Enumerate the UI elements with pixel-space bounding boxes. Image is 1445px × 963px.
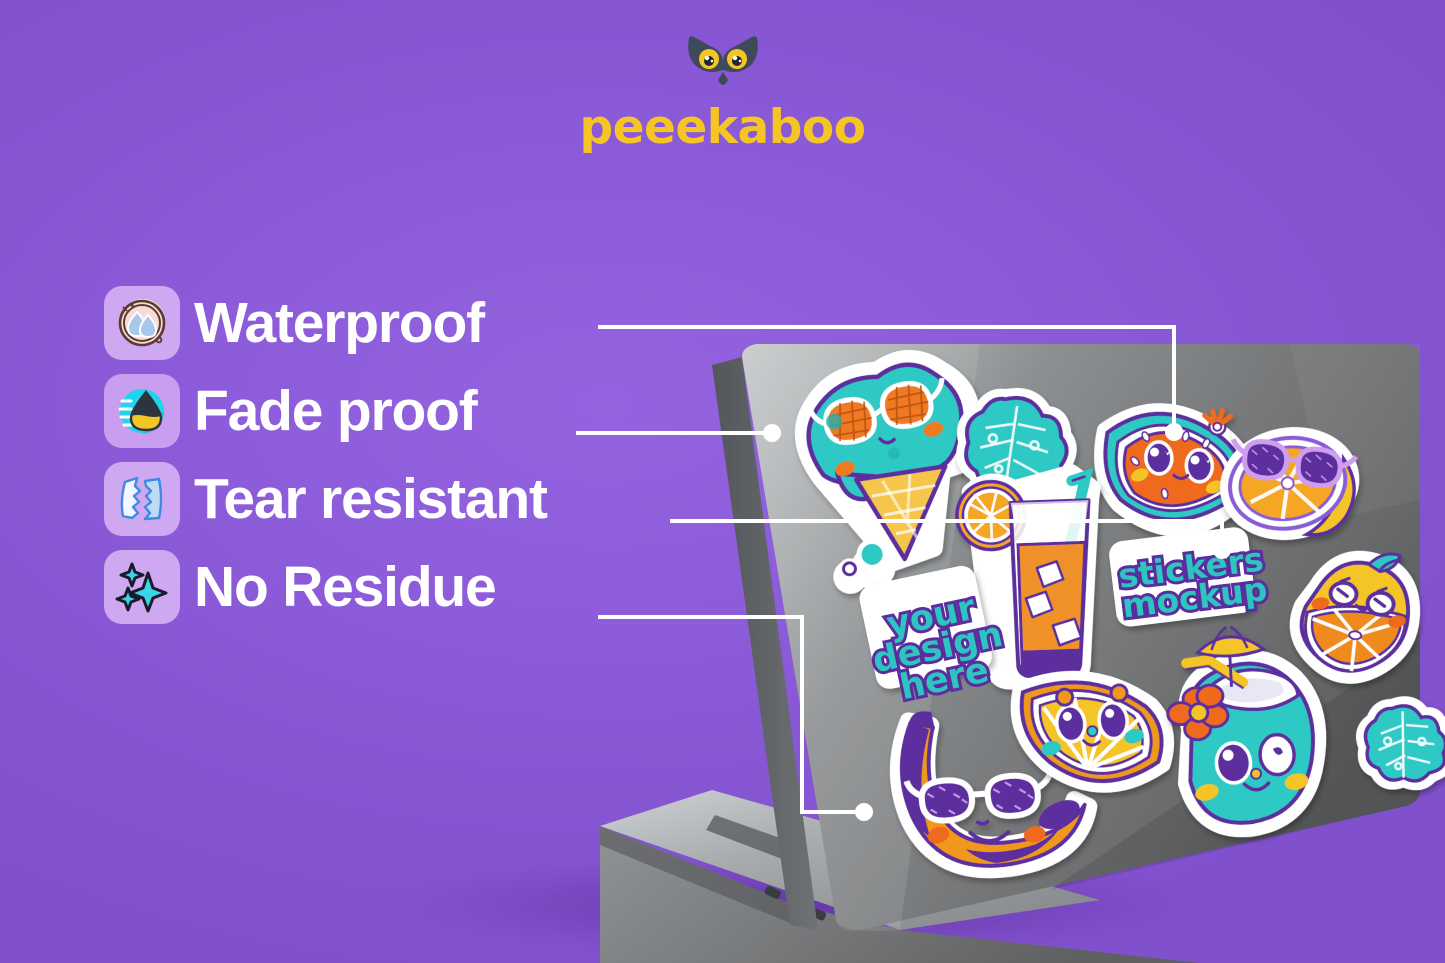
- owl-icon: [684, 34, 762, 100]
- half-toned-droplet-icon: [115, 384, 169, 438]
- feature-item-waterproof[interactable]: Waterproof: [104, 286, 547, 360]
- brand-logo: peeekaboo: [0, 34, 1445, 151]
- feature-item-fade-proof[interactable]: Fade proof: [104, 374, 547, 448]
- feature-label-waterproof: Waterproof: [194, 295, 484, 352]
- feature-item-no-residue[interactable]: No Residue: [104, 550, 547, 624]
- feature-item-tear-resistant[interactable]: Tear resistant: [104, 462, 547, 536]
- torn-paper-icon: [115, 472, 169, 526]
- waterproof-icon-tile: [104, 286, 180, 360]
- brand-wordmark: peeekaboo: [580, 104, 866, 151]
- fade-proof-icon-tile: [104, 374, 180, 448]
- water-droplets-in-circle-icon: [115, 296, 169, 350]
- tear-resistant-icon-tile: [104, 462, 180, 536]
- feature-label-tear-resistant: Tear resistant: [194, 471, 547, 528]
- poster-canvas: your design here stickers mockup: [0, 0, 1445, 963]
- feature-label-no-residue: No Residue: [194, 559, 496, 616]
- feature-list: Waterproof Fade p: [104, 286, 547, 624]
- sparkles-icon: [115, 560, 169, 614]
- feature-label-fade-proof: Fade proof: [194, 383, 477, 440]
- no-residue-icon-tile: [104, 550, 180, 624]
